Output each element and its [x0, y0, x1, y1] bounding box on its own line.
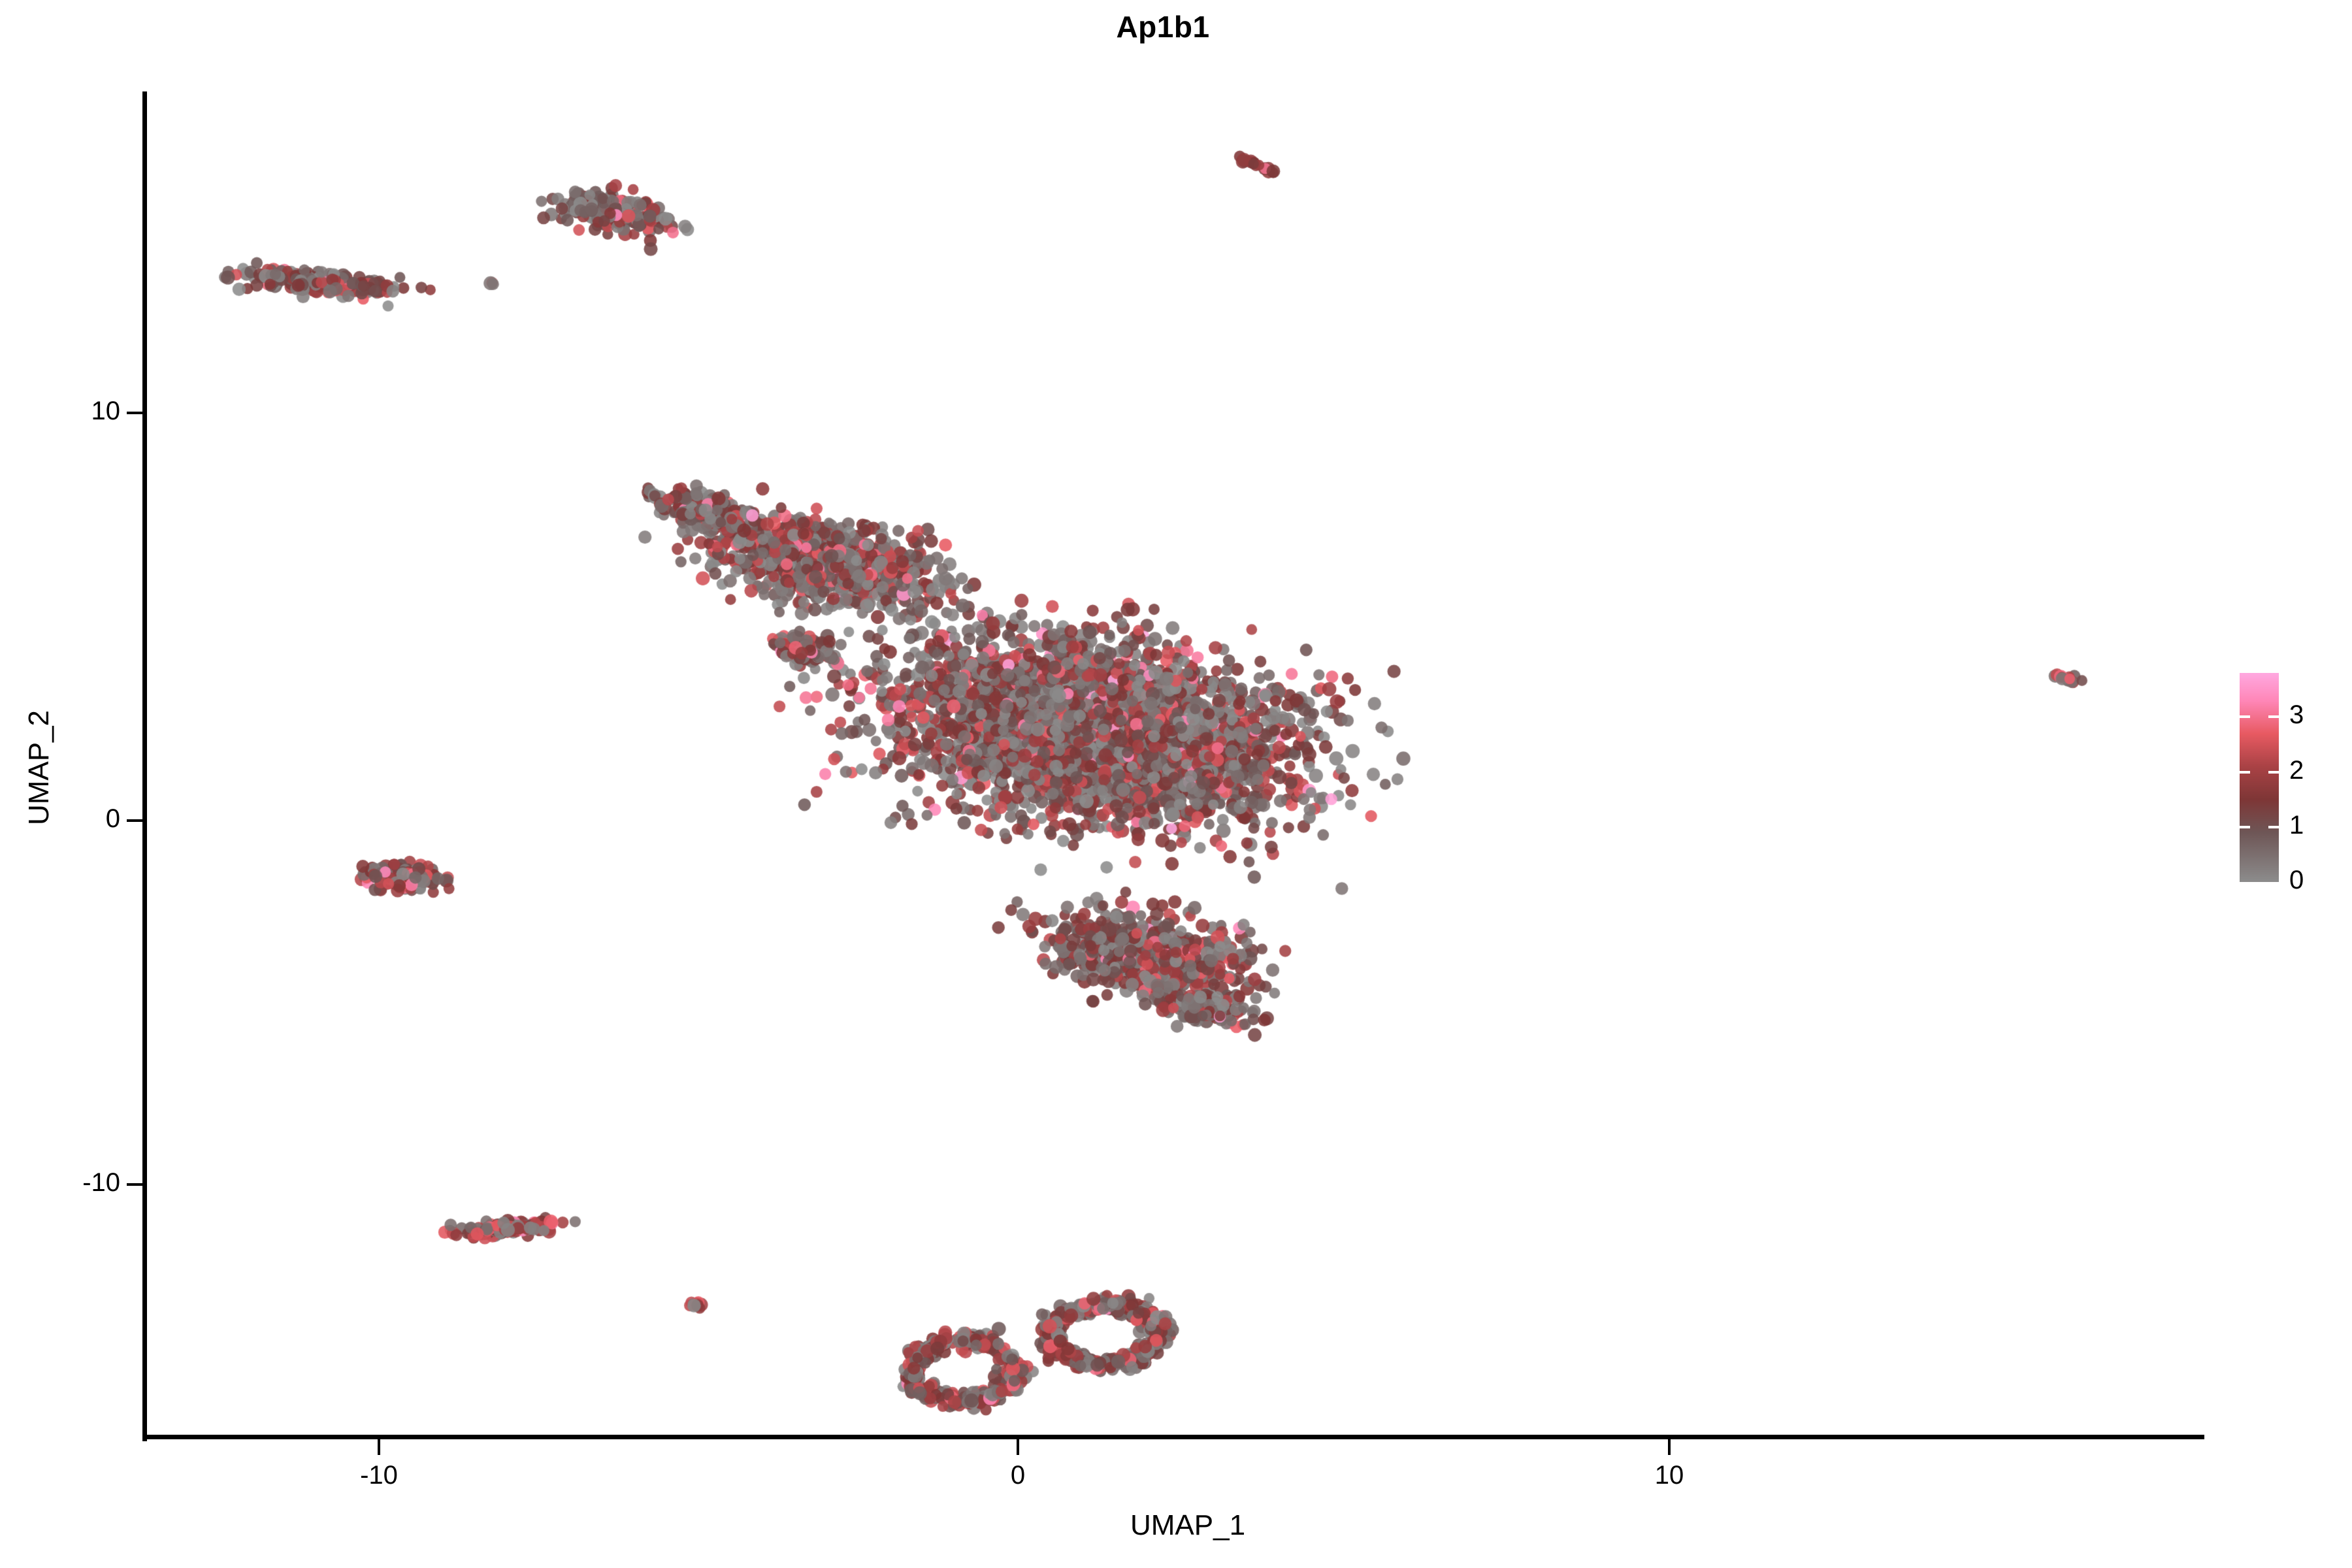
legend-tick-mark: [2268, 826, 2279, 828]
scatter-canvas: [144, 91, 2203, 1439]
y-tick-label: 10: [26, 397, 120, 426]
legend-tick-label: 1: [2289, 811, 2304, 840]
legend-tick-mark: [2240, 715, 2250, 718]
scatter-points: [144, 91, 2203, 1439]
y-tick-mark: [127, 819, 142, 822]
color-legend: 3210: [2240, 673, 2344, 889]
chart-root: Ap1b1 -10010100-10 UMAP_1 UMAP_2 3210: [0, 0, 2352, 1568]
plot-panel: [144, 91, 2203, 1439]
color-gradient-bar: [2240, 673, 2279, 882]
x-tick-label: 10: [1604, 1461, 1735, 1490]
x-tick-mark: [1668, 1439, 1671, 1455]
x-tick-label: -10: [314, 1461, 444, 1490]
legend-tick-mark: [2240, 826, 2250, 828]
x-tick-mark: [1017, 1439, 1019, 1455]
x-tick-label: 0: [953, 1461, 1083, 1490]
page-title: Ap1b1: [0, 9, 2326, 44]
legend-tick-label: 3: [2289, 700, 2304, 730]
y-tick-label: -10: [26, 1168, 120, 1198]
legend-tick-mark: [2240, 771, 2250, 774]
legend-tick-mark: [2268, 715, 2279, 718]
x-axis-title: UMAP_1: [1130, 1509, 1392, 1542]
y-axis-title: UMAP_2: [23, 637, 56, 898]
legend-tick-label: 2: [2289, 756, 2304, 785]
legend-tick-mark: [2268, 771, 2279, 774]
legend-tick-label: 0: [2289, 866, 2304, 895]
y-tick-mark: [127, 412, 142, 414]
y-tick-mark: [127, 1183, 142, 1186]
x-tick-mark: [378, 1439, 380, 1455]
